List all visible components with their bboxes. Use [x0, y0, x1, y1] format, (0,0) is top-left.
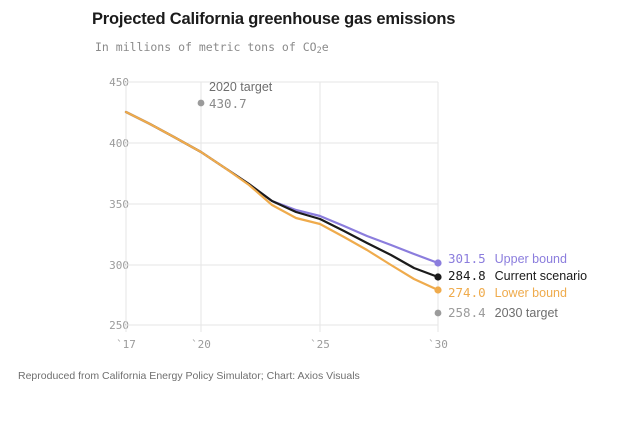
- series-upper-bound: [126, 112, 442, 267]
- chart-card: Projected California greenhouse gas emis…: [0, 0, 642, 421]
- legend-label-lower-bound: Lower bound: [495, 285, 567, 301]
- chart-footer-credit: Reproduced from California Energy Policy…: [18, 370, 360, 382]
- line-lower-bound: [126, 112, 438, 290]
- annotation-2020-target-label: 2020 target: [209, 80, 272, 94]
- annotation-2020-target-value: 430.7: [209, 96, 272, 111]
- grid-lines: [126, 82, 438, 332]
- endpoint-dot-lower-bound: [434, 286, 441, 293]
- annotation-2020-target: 2020 target 430.7: [209, 80, 272, 111]
- legend-item-current-scenario: 284.8Current scenario: [448, 268, 587, 284]
- legend-label-upper-bound: Upper bound: [495, 251, 567, 267]
- legend-value-lower-bound: 274.0: [448, 285, 486, 301]
- target-dot-2030: [435, 310, 442, 317]
- legend-label-current-scenario: Current scenario: [495, 268, 587, 284]
- legend-item-2030-target: 258.42030 target: [448, 305, 558, 321]
- legend-label-2030-target: 2030 target: [495, 305, 558, 321]
- legend-item-lower-bound: 274.0Lower bound: [448, 285, 567, 301]
- legend-value-upper-bound: 301.5: [448, 251, 486, 267]
- endpoint-dot-current-scenario: [434, 273, 441, 280]
- plot-area: [0, 0, 642, 421]
- target-dot-2020: [198, 100, 205, 107]
- legend-value-2030-target: 258.4: [448, 305, 486, 321]
- endpoint-dot-upper-bound: [434, 259, 441, 266]
- line-upper-bound: [126, 112, 438, 263]
- series-lower-bound: [126, 112, 442, 294]
- legend-item-upper-bound: 301.5Upper bound: [448, 251, 567, 267]
- legend-value-current-scenario: 284.8: [448, 268, 486, 284]
